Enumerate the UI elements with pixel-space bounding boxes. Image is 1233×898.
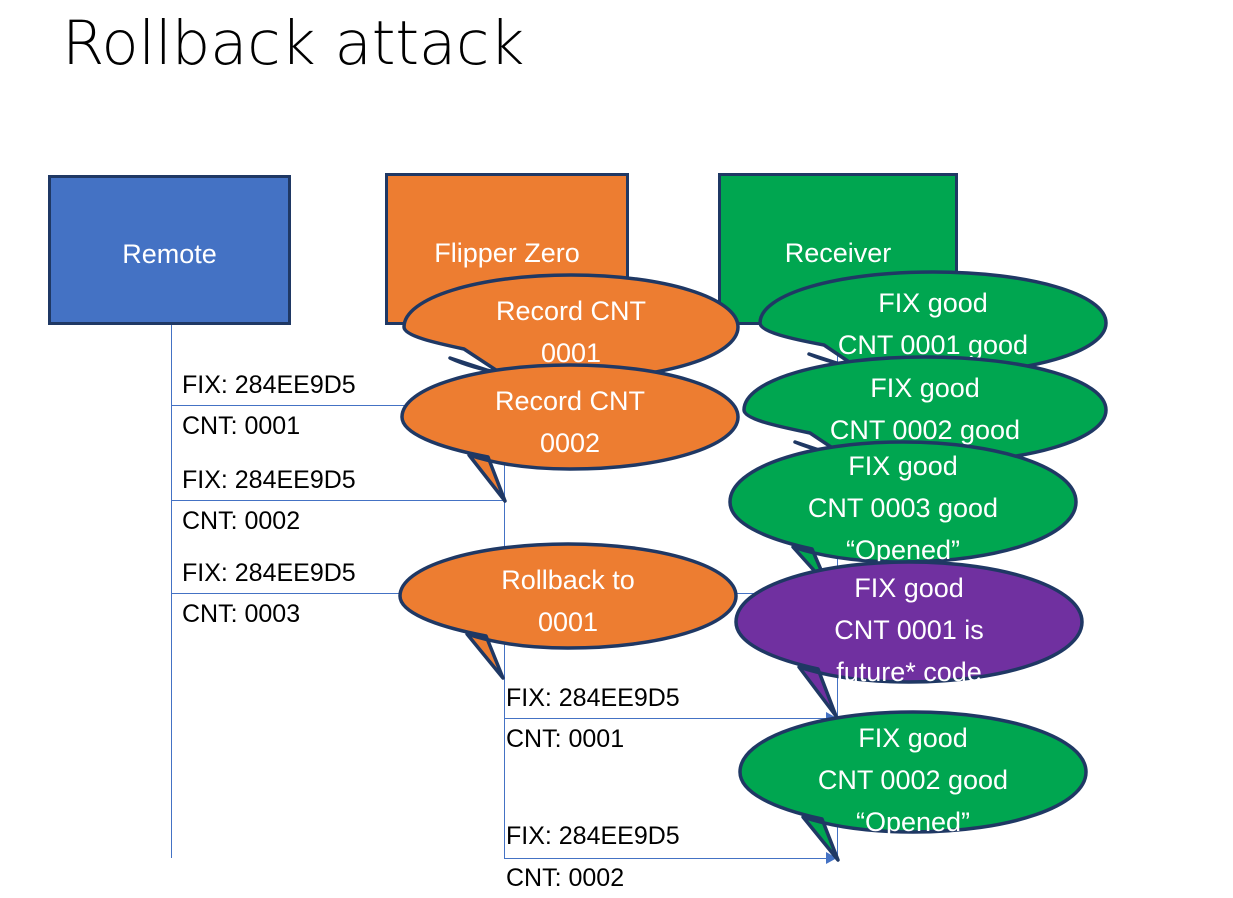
callout-record-cnt-0002[interactable]: Record CNT 0002	[400, 363, 740, 505]
callout-shape	[738, 710, 1088, 865]
callout-fix-good-cnt-0002-opened[interactable]: FIX good CNT 0002 good “Opened”	[738, 710, 1088, 865]
actor-box-remote[interactable]: Remote	[48, 175, 291, 325]
callout-shape	[734, 560, 1084, 720]
callout-rollback-to-0001[interactable]: Rollback to 0001	[398, 542, 738, 682]
callout-future-code-alert[interactable]: FIX good CNT 0001 is future* code	[734, 560, 1084, 720]
message-cnt-3: CNT: 0003	[182, 600, 300, 629]
message-cnt-5: CNT: 0002	[506, 864, 624, 893]
message-fix-3: FIX: 284EE9D5	[182, 559, 356, 588]
callout-shape	[398, 542, 738, 682]
actor-label-receiver: Receiver	[721, 238, 955, 269]
message-fix-2: FIX: 284EE9D5	[182, 466, 356, 495]
message-fix-5: FIX: 284EE9D5	[506, 822, 680, 851]
callout-shape	[400, 363, 740, 505]
slide-canvas: Rollback attack FIX: 284EE9D5 CNT: 0001 …	[0, 0, 1233, 898]
actor-label-remote: Remote	[51, 239, 288, 270]
message-cnt-2: CNT: 0002	[182, 507, 300, 536]
message-cnt-4: CNT: 0001	[506, 725, 624, 754]
actor-label-flipper: Flipper Zero	[388, 238, 626, 269]
message-cnt-1: CNT: 0001	[182, 412, 300, 441]
message-fix-1: FIX: 284EE9D5	[182, 371, 356, 400]
message-fix-4: FIX: 284EE9D5	[506, 684, 680, 713]
page-title: Rollback attack	[62, 8, 524, 79]
